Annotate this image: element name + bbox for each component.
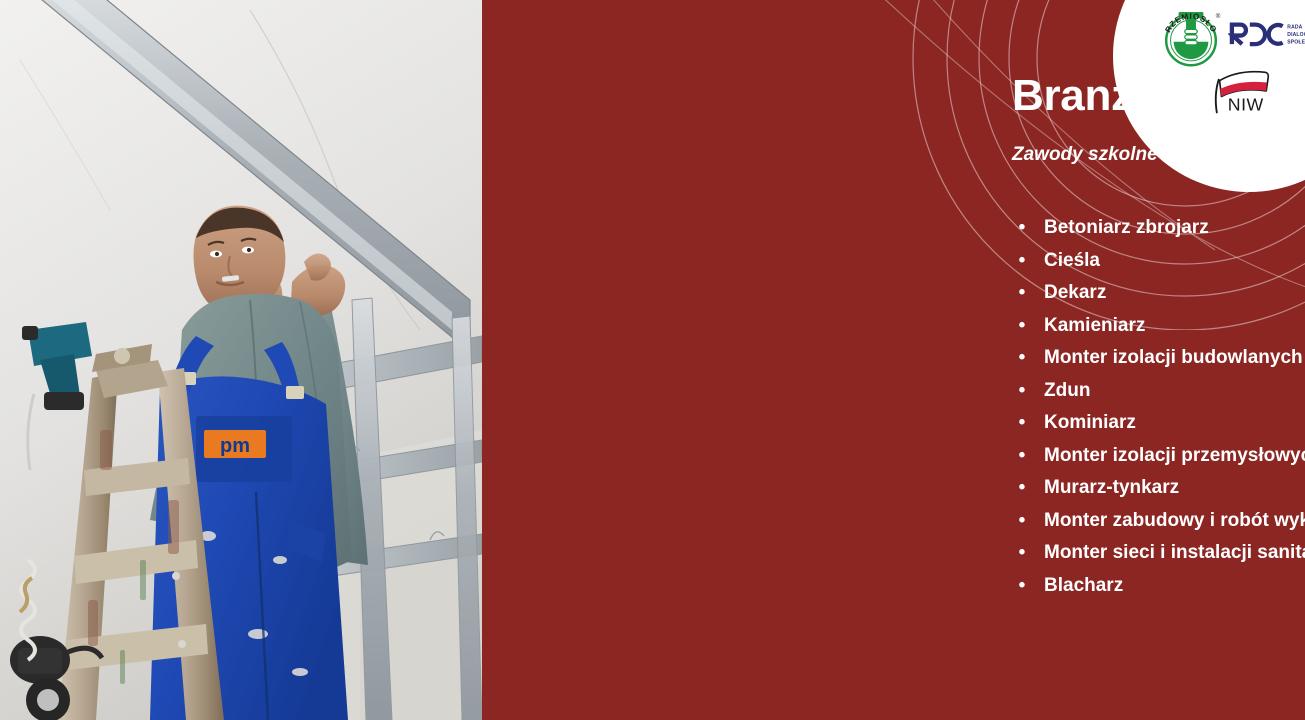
- svg-text:RADA: RADA: [1287, 25, 1302, 31]
- list-item-label: Dekarz: [1044, 282, 1106, 303]
- bullet-icon: •: [1017, 440, 1027, 473]
- list-item: • Murarz-tynkarz: [1012, 472, 1305, 505]
- list-item-label: Kominiarz: [1044, 412, 1136, 433]
- logo-bar: RZEMIOSŁO ® RADA DIALOGU SPOŁE: [1160, 4, 1305, 124]
- svg-text:®: ®: [1216, 13, 1221, 20]
- bullet-icon: •: [1017, 245, 1027, 278]
- niw-logo: NIW: [1208, 62, 1276, 118]
- bullet-icon: •: [1017, 537, 1027, 570]
- svg-text:DIALOGU: DIALOGU: [1287, 32, 1305, 38]
- list-item: • Kominiarz: [1012, 407, 1305, 440]
- list-item: • Monter sieci i instalacji sanitarnych: [1012, 537, 1305, 570]
- list-item-label: Monter izolacji przemysłowych: [1044, 445, 1305, 466]
- bullet-icon: •: [1017, 472, 1027, 505]
- list-item-label: Monter izolacji budowlanych: [1044, 347, 1303, 368]
- list-item-label: Betoniarz zbrojarz: [1044, 217, 1209, 238]
- list-item: • Betoniarz zbrojarz: [1012, 212, 1305, 245]
- svg-text:NIW: NIW: [1228, 95, 1264, 115]
- bullet-icon: •: [1017, 570, 1027, 603]
- svg-text:SPOŁECZNEGO: SPOŁECZNEGO: [1287, 39, 1305, 45]
- slide: pm: [0, 0, 1305, 720]
- bullet-icon: •: [1017, 277, 1027, 310]
- bullet-icon: •: [1017, 310, 1027, 343]
- bullet-icon: •: [1017, 212, 1027, 245]
- list-item: • Monter izolacji przemysłowych: [1012, 440, 1305, 473]
- list-item: • Zdun: [1012, 375, 1305, 408]
- rds-logo: RADA DIALOGU SPOŁECZNEGO: [1228, 17, 1305, 51]
- rzemioslo-logo: RZEMIOSŁO ®: [1160, 7, 1222, 69]
- profession-list: • Betoniarz zbrojarz • Cieśla • Dekarz •…: [1012, 212, 1305, 602]
- bullet-icon: •: [1017, 505, 1027, 538]
- list-item-label: Monter zabudowy i robót wykończeniowych …: [1044, 510, 1305, 531]
- list-item-label: Zdun: [1044, 380, 1090, 401]
- list-item-label: Monter sieci i instalacji sanitarnych: [1044, 542, 1305, 563]
- list-item: • Dekarz: [1012, 277, 1305, 310]
- list-item: • Cieśla: [1012, 245, 1305, 278]
- list-item-label: Murarz-tynkarz: [1044, 477, 1179, 498]
- construction-worker-photo: pm: [0, 0, 482, 720]
- list-item: • Monter zabudowy i robót wykończeniowyc…: [1012, 505, 1305, 538]
- list-item-label: Kamieniarz: [1044, 315, 1145, 336]
- list-item-label: Blacharz: [1044, 575, 1123, 596]
- bullet-icon: •: [1017, 407, 1027, 440]
- bullet-icon: •: [1017, 375, 1027, 408]
- list-item: • Blacharz: [1012, 570, 1305, 603]
- list-item: • Monter izolacji budowlanych: [1012, 342, 1305, 375]
- bullet-icon: •: [1017, 342, 1027, 375]
- list-item: • Kamieniarz: [1012, 310, 1305, 343]
- list-item-label: Cieśla: [1044, 250, 1100, 271]
- svg-text:pm: pm: [220, 435, 250, 457]
